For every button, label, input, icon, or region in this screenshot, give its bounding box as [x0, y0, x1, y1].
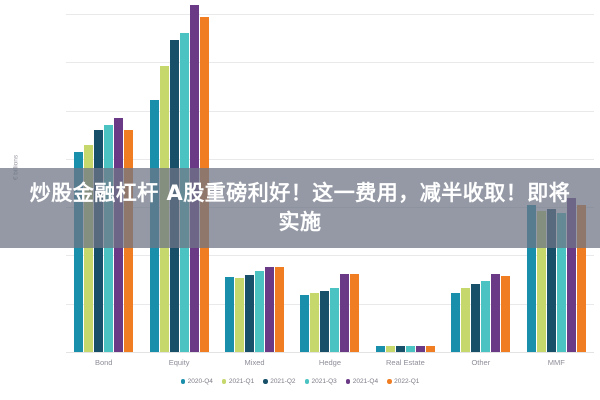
- legend-item[interactable]: 2021-Q4: [346, 378, 378, 385]
- legend-label: 2022-Q1: [394, 378, 419, 385]
- bar[interactable]: [481, 281, 490, 352]
- bar[interactable]: [265, 267, 274, 352]
- legend-dot-icon: [387, 379, 392, 384]
- legend-item[interactable]: 2021-Q3: [305, 378, 337, 385]
- chart-screenshot: € billions 0bn200bn400bn600bn800bn1,000b…: [0, 0, 600, 400]
- bar[interactable]: [461, 288, 470, 352]
- legend-dot-icon: [305, 379, 310, 384]
- legend-dot-icon: [181, 379, 186, 384]
- bar[interactable]: [310, 293, 319, 352]
- bar[interactable]: [501, 276, 510, 352]
- bar[interactable]: [225, 277, 234, 352]
- bar[interactable]: [330, 288, 339, 352]
- x-axis-tick-label: Other: [443, 358, 518, 367]
- bar[interactable]: [275, 267, 284, 352]
- x-axis-tick-label: Hedge: [292, 358, 367, 367]
- bar[interactable]: [376, 346, 385, 352]
- legend-label: 2021-Q4: [353, 378, 378, 385]
- legend-label: 2020-Q4: [188, 378, 213, 385]
- legend-dot-icon: [263, 379, 268, 384]
- bar[interactable]: [416, 346, 425, 352]
- bar[interactable]: [350, 274, 359, 352]
- overlay-caption-text: 炒股金融杠杆 A股重磅利好！这一费用，减半收取！即将实施: [22, 179, 578, 237]
- bar[interactable]: [406, 346, 415, 352]
- x-axis-tick-label: MMF: [519, 358, 594, 367]
- legend-label: 2021-Q2: [270, 378, 295, 385]
- legend-dot-icon: [346, 379, 351, 384]
- bar[interactable]: [300, 295, 309, 352]
- gridline: [66, 352, 594, 353]
- x-axis-tick-label: Bond: [66, 358, 141, 367]
- bar[interactable]: [491, 274, 500, 352]
- legend-label: 2021-Q3: [312, 378, 337, 385]
- legend-item[interactable]: 2021-Q1: [222, 378, 254, 385]
- legend-item[interactable]: 2020-Q4: [181, 378, 213, 385]
- bar[interactable]: [340, 274, 349, 352]
- bar[interactable]: [471, 284, 480, 352]
- x-axis-tick-label: Equity: [141, 358, 216, 367]
- bar[interactable]: [451, 293, 460, 352]
- legend-dot-icon: [222, 379, 227, 384]
- bar[interactable]: [320, 291, 329, 352]
- legend-item[interactable]: 2021-Q2: [263, 378, 295, 385]
- bar[interactable]: [426, 346, 435, 352]
- legend-item[interactable]: 2022-Q1: [387, 378, 419, 385]
- bar[interactable]: [386, 346, 395, 352]
- x-axis-tick-label: Mixed: [217, 358, 292, 367]
- overlay-caption-banner: 炒股金融杠杆 A股重磅利好！这一费用，减半收取！即将实施: [0, 168, 600, 248]
- legend-label: 2021-Q1: [229, 378, 254, 385]
- bar[interactable]: [245, 275, 254, 352]
- x-axis-tick-label: Real Estate: [368, 358, 443, 367]
- chart-legend: 2020-Q42021-Q12021-Q22021-Q32021-Q42022-…: [0, 378, 600, 385]
- bar[interactable]: [255, 271, 264, 352]
- bar[interactable]: [396, 346, 405, 352]
- bar[interactable]: [235, 278, 244, 352]
